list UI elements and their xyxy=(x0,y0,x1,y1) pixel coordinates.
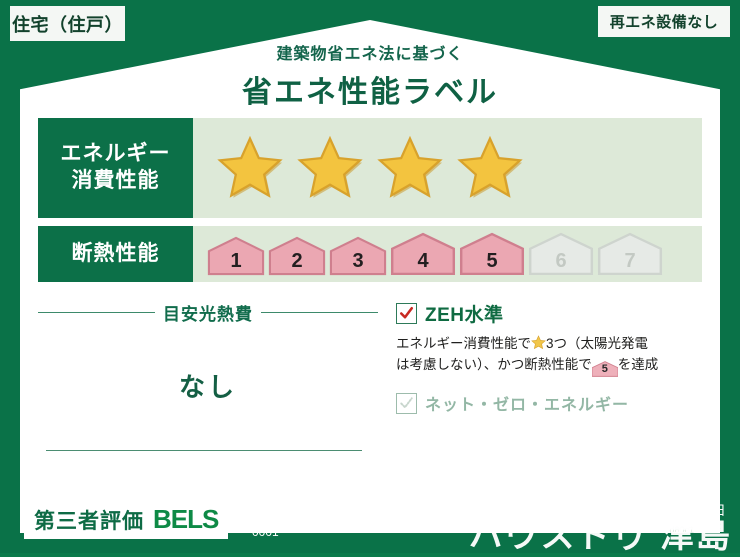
star-icon-inline xyxy=(531,335,546,350)
net-zero-label: ネット・ゼロ・エネルギー xyxy=(425,391,629,415)
star-icon xyxy=(455,134,525,202)
bels-label-jp: 第三者評価 xyxy=(34,505,144,535)
insulation-grade-scale: 1234567 xyxy=(207,232,663,276)
insulation-grade-3: 3 xyxy=(329,236,387,276)
zeh-desc-part3: は考慮しない）、かつ断熱性能で xyxy=(396,357,592,372)
check-icon xyxy=(399,306,414,321)
label-root: 住宅（住戸） 再エネ設備なし 建築物省エネ法に基づく 省エネ性能ラベル エネルギ… xyxy=(0,0,740,553)
insulation-grade-7: 7 xyxy=(597,232,663,276)
lower-section: 目安光熱費 なし ZEH水準 エネルギー消費性能で 3つ（太陽光発電 は考慮しな… xyxy=(38,300,702,415)
inline-grade-badge: 5 xyxy=(592,361,618,377)
insulation-grade-value: 3 xyxy=(352,250,363,273)
lower-divider xyxy=(46,450,362,451)
star-icon xyxy=(215,134,285,202)
row-insulation-performance: 断熱性能 1234567 xyxy=(38,226,702,282)
insulation-grade-value: 2 xyxy=(291,250,302,273)
zeh-desc-part4: を達成 xyxy=(618,357,659,372)
insulation-grade-5: 5 xyxy=(459,232,525,276)
bels-badge: 第三者評価 BELS xyxy=(24,501,228,539)
zeh-checkbox[interactable] xyxy=(396,303,417,324)
zeh-desc-part2: 3つ（太陽光発電 xyxy=(546,336,648,351)
insulation-grade-value: 1 xyxy=(230,250,241,273)
badge-renewable-equipment: 再エネ設備なし xyxy=(598,6,730,37)
zeh-desc-part1: エネルギー消費性能で xyxy=(396,336,531,351)
zeh-heading: ZEH水準 xyxy=(396,300,702,327)
insulation-grade-2: 2 xyxy=(268,236,326,276)
insulation-grade-value: 5 xyxy=(486,250,497,273)
insulation-grade-1: 1 xyxy=(207,236,265,276)
net-zero-checkbox[interactable] xyxy=(396,393,417,414)
net-zero-row: ネット・ゼロ・エネルギー xyxy=(396,391,702,415)
zeh-panel: ZEH水準 エネルギー消費性能で 3つ（太陽光発電 は考慮しない）、かつ断熱性能… xyxy=(378,300,702,415)
bels-label-en: BELS xyxy=(153,504,218,535)
row-energy-label-line1: エネルギー xyxy=(61,141,171,168)
row-insulation-body: 1234567 xyxy=(193,226,702,282)
title-block: 建築物省エネ法に基づく 省エネ性能ラベル xyxy=(0,40,740,111)
rule-left xyxy=(38,312,155,313)
utility-cost-heading: 目安光熱費 xyxy=(38,300,378,325)
label-subtitle: 建築物省エネ法に基づく xyxy=(0,40,740,64)
row-insulation-label: 断熱性能 xyxy=(38,226,193,282)
row-energy-label-line2: 消費性能 xyxy=(72,168,160,195)
rating-rows: エネルギー 消費性能 断熱性能 1234567 xyxy=(38,118,702,290)
utility-cost-value: なし xyxy=(38,367,378,404)
utility-cost-heading-text: 目安光熱費 xyxy=(163,300,253,325)
rule-right xyxy=(261,312,378,313)
insulation-grade-4: 4 xyxy=(390,232,456,276)
badge-dwelling-type: 住宅（住戸） xyxy=(10,6,125,41)
row-energy-label: エネルギー 消費性能 xyxy=(38,118,193,218)
row-energy-performance: エネルギー 消費性能 xyxy=(38,118,702,218)
footer-address: 愛西市草平町江ノ田1棟 1号棟-83175012-0001 xyxy=(252,506,492,541)
watermark-brand: ハウスドゥ 津島 xyxy=(469,508,732,557)
utility-cost-panel: 目安光熱費 なし xyxy=(38,300,378,415)
insulation-grade-value: 7 xyxy=(624,250,635,273)
zeh-description: エネルギー消費性能で 3つ（太陽光発電 は考慮しない）、かつ断熱性能で 5 を達… xyxy=(396,334,702,377)
insulation-grade-value: 4 xyxy=(417,250,428,273)
star-rating xyxy=(215,134,525,202)
zeh-title: ZEH水準 xyxy=(425,300,504,327)
insulation-grade-6: 6 xyxy=(528,232,594,276)
row-energy-body xyxy=(193,118,702,218)
check-icon-disabled xyxy=(399,396,414,411)
insulation-grade-value: 6 xyxy=(555,250,566,273)
star-icon xyxy=(375,134,445,202)
footer: 第三者評価 BELS 愛西市草平町江ノ田1棟 1号棟-83175012-0001… xyxy=(0,491,740,553)
star-icon xyxy=(295,134,365,202)
label-title: 省エネ性能ラベル xyxy=(0,67,740,111)
inline-grade-value: 5 xyxy=(602,361,608,378)
